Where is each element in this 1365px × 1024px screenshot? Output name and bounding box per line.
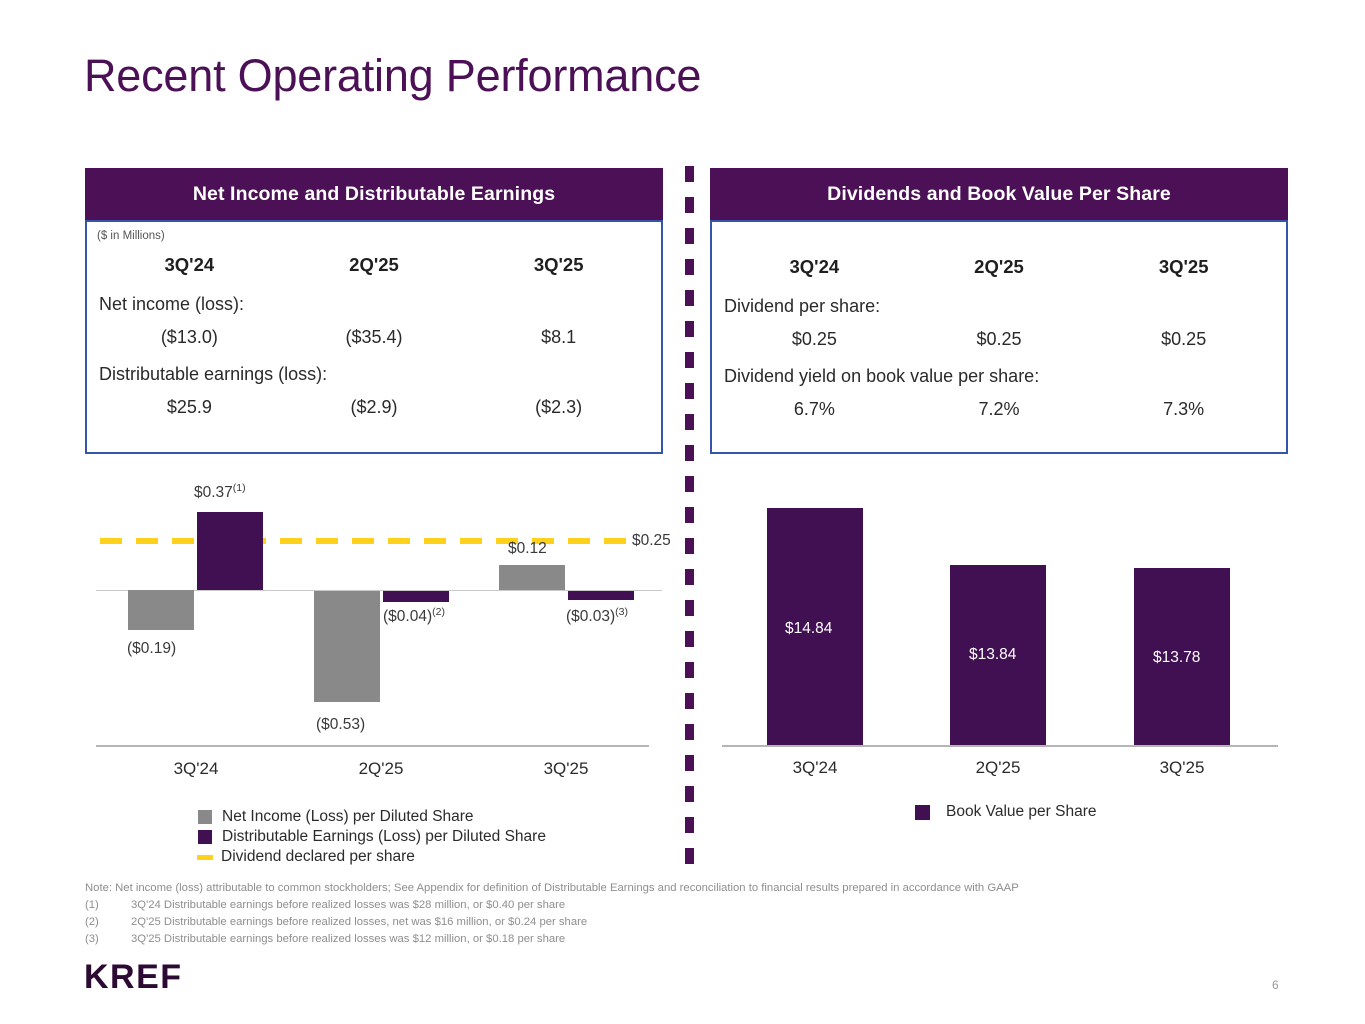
bar-de-3q25 [568, 591, 634, 600]
legend-swatch-dash-icon [197, 855, 213, 860]
footnote-marker: (3) [85, 931, 131, 948]
bar-label-book-value-3q24: $14.84 [785, 620, 832, 638]
footnote-text: 2Q'25 Distributable earnings before real… [131, 914, 587, 931]
table-cell: $0.25 [1091, 319, 1276, 352]
legend-label: Dividend declared per share [221, 848, 415, 866]
x-axis-line [96, 745, 649, 747]
bar-label-book-value-2q25: $13.84 [969, 646, 1016, 664]
dividend-reference-line [100, 538, 626, 544]
table-cell: 7.2% [907, 389, 1092, 422]
legend-item-net-income: Net Income (Loss) per Diluted Share [198, 807, 546, 827]
column-header: 2Q'25 [907, 248, 1092, 282]
footnotes: Note: Net income (loss) attributable to … [85, 880, 1275, 948]
bar-label-book-value-3q25: $13.78 [1153, 649, 1200, 667]
chart-plot-area: $0.25 $0.37(1) ($0.19) ($0.04)(2) ($0.53… [96, 478, 662, 778]
bar-label-net-income-3q25: $0.12 [508, 540, 547, 558]
table-row-label: Distributable earnings (loss): [97, 350, 651, 387]
legend-swatch-purple-icon [915, 805, 930, 820]
x-tick-2q25: 2Q'25 [341, 759, 421, 779]
right-panel: Dividends and Book Value Per Share 3Q'24… [710, 168, 1288, 454]
kref-logo: KREF [84, 958, 183, 997]
table-cell: ($2.3) [466, 387, 651, 420]
bar-net-income-2q25 [314, 591, 380, 702]
table-cell: ($2.9) [282, 387, 467, 420]
bar-net-income-3q25 [499, 565, 565, 590]
bar-label-de-3q24: $0.37(1) [194, 482, 246, 502]
left-panel-header: Net Income and Distributable Earnings [85, 168, 663, 220]
dividend-reference-label: $0.25 [632, 532, 671, 550]
column-header: 3Q'25 [1091, 248, 1276, 282]
footnote-text: 3Q'24 Distributable earnings before real… [131, 897, 565, 914]
table-cell: $0.25 [907, 319, 1092, 352]
x-tick-3q24: 3Q'24 [156, 759, 236, 779]
table-row-label: Net income (loss): [97, 280, 651, 317]
table-cell: $25.9 [97, 387, 282, 420]
bar-de-3q24 [197, 512, 263, 590]
legend-label: Distributable Earnings (Loss) per Dilute… [222, 828, 546, 846]
units-note: ($ in Millions) [97, 230, 651, 242]
column-header: 3Q'24 [722, 248, 907, 282]
right-table-column-headers: 3Q'24 2Q'25 3Q'25 [722, 248, 1276, 282]
left-table-column-headers: 3Q'24 2Q'25 3Q'25 [97, 246, 651, 280]
legend-label: Book Value per Share [946, 803, 1097, 821]
footnote-note: Note: Net income (loss) attributable to … [85, 880, 1275, 897]
footnote-item: (1) 3Q'24 Distributable earnings before … [85, 897, 1275, 914]
right-chart-legend: Book Value per Share [915, 803, 1097, 821]
footnote-marker: (2) [85, 914, 131, 931]
table-cell: $8.1 [466, 317, 651, 350]
footnote-marker: (1) [85, 897, 131, 914]
x-tick-3q24: 3Q'24 [775, 758, 855, 778]
column-header: 3Q'25 [466, 246, 651, 280]
chart-net-income-and-de-per-share: $0.25 $0.37(1) ($0.19) ($0.04)(2) ($0.53… [96, 478, 662, 778]
slide: Recent Operating Performance Net Income … [0, 0, 1365, 1024]
right-panel-table: 3Q'24 2Q'25 3Q'25 Dividend per share: $0… [710, 220, 1288, 454]
bar-label-net-income-2q25: ($0.53) [316, 716, 365, 734]
x-tick-3q25: 3Q'25 [1142, 758, 1222, 778]
legend-swatch-gray-icon [198, 810, 212, 824]
table-cell: ($35.4) [282, 317, 467, 350]
page-number: 6 [1272, 978, 1279, 992]
table-cell: 6.7% [722, 389, 907, 422]
left-panel: Net Income and Distributable Earnings ($… [85, 168, 663, 454]
bar-net-income-3q24 [128, 590, 194, 630]
table-row-label: Dividend yield on book value per share: [722, 352, 1276, 389]
footnote-item: (2) 2Q'25 Distributable earnings before … [85, 914, 1275, 931]
bar-label-de-2q25: ($0.04)(2) [383, 606, 445, 626]
right-panel-header: Dividends and Book Value Per Share [710, 168, 1288, 220]
table-cell: 7.3% [1091, 389, 1276, 422]
bar-label-net-income-3q24: ($0.19) [127, 640, 176, 658]
x-axis-line [722, 745, 1278, 747]
legend-swatch-purple-icon [198, 830, 212, 844]
footnote-text: 3Q'25 Distributable earnings before real… [131, 931, 565, 948]
x-tick-3q25: 3Q'25 [526, 759, 606, 779]
table-cell: ($13.0) [97, 317, 282, 350]
table-row: $0.25 $0.25 $0.25 [722, 319, 1276, 352]
legend-label: Net Income (Loss) per Diluted Share [222, 808, 474, 826]
legend-item-distributable-earnings: Distributable Earnings (Loss) per Dilute… [198, 827, 546, 847]
vertical-dashed-divider [685, 166, 694, 866]
left-chart-legend: Net Income (Loss) per Diluted Share Dist… [198, 807, 546, 867]
table-cell: $0.25 [722, 319, 907, 352]
bar-label-de-3q25: ($0.03)(3) [566, 606, 628, 626]
table-row: ($13.0) ($35.4) $8.1 [97, 317, 651, 350]
chart-plot-area: $14.84 $13.84 $13.78 3Q'24 2Q'25 3Q'25 [722, 486, 1282, 778]
table-row: 6.7% 7.2% 7.3% [722, 389, 1276, 422]
column-header: 2Q'25 [282, 246, 467, 280]
bar-de-2q25 [383, 591, 449, 602]
page-title: Recent Operating Performance [84, 50, 701, 102]
left-panel-table: ($ in Millions) 3Q'24 2Q'25 3Q'25 Net in… [85, 220, 663, 454]
column-header: 3Q'24 [97, 246, 282, 280]
footnote-item: (3) 3Q'25 Distributable earnings before … [85, 931, 1275, 948]
chart-book-value-per-share: $14.84 $13.84 $13.78 3Q'24 2Q'25 3Q'25 [722, 486, 1282, 778]
table-row: $25.9 ($2.9) ($2.3) [97, 387, 651, 420]
legend-item-dividend-declared: Dividend declared per share [198, 847, 546, 867]
x-tick-2q25: 2Q'25 [958, 758, 1038, 778]
table-row-label: Dividend per share: [722, 282, 1276, 319]
